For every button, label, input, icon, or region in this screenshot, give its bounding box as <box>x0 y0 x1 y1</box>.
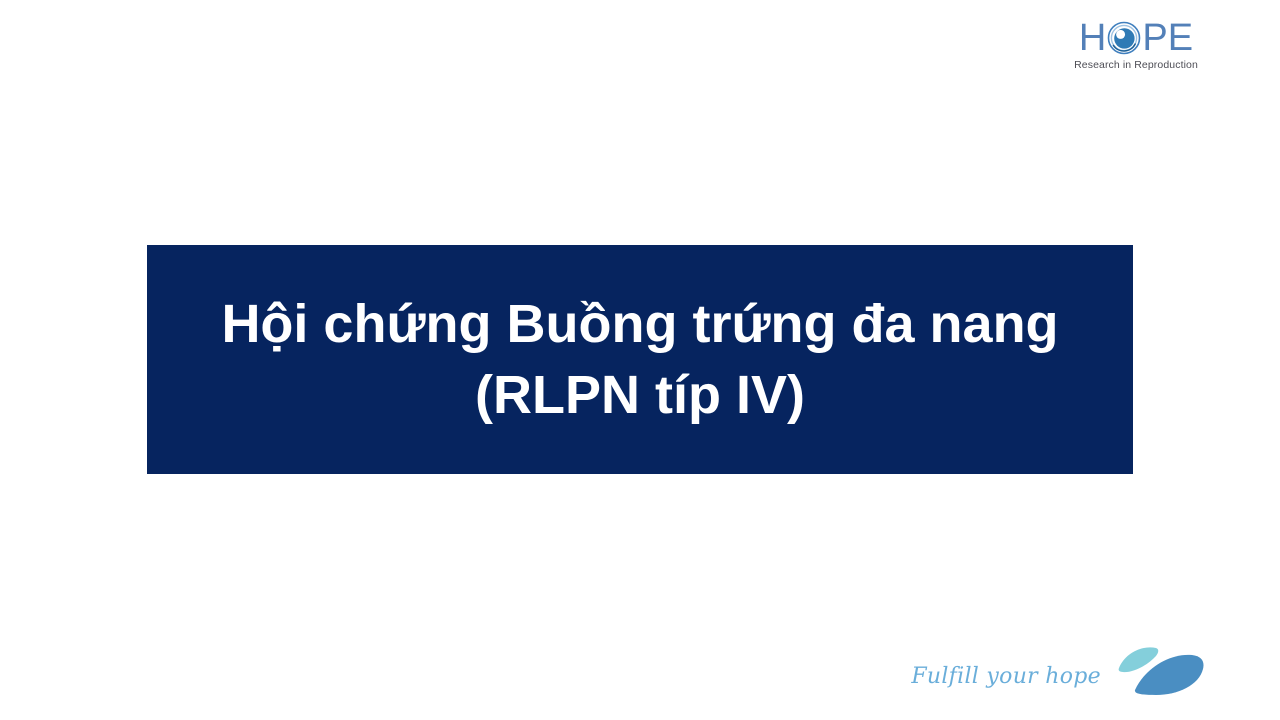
brand-letter-p: P <box>1142 19 1167 57</box>
eye-iris-icon <box>1107 21 1141 55</box>
title-band: Hội chứng Buồng trứng đa nang (RLPN típ … <box>147 245 1133 474</box>
page-title: Hội chứng Buồng trứng đa nang (RLPN típ … <box>173 289 1107 429</box>
slide-canvas: H P E Research in Reproduction Hội chứng… <box>0 0 1280 720</box>
brand-letter-e: E <box>1168 19 1193 57</box>
brand-tagline: Research in Reproduction <box>1074 59 1198 71</box>
brand-letter-h: H <box>1079 19 1106 57</box>
hope-wordmark: H P E <box>1079 18 1193 58</box>
footer-slogan: Fulfill your hope <box>911 666 1101 688</box>
two-leaf-logo-icon <box>1115 642 1207 698</box>
footer-brand-mark: Fulfill your hope <box>911 642 1207 698</box>
title-line-1: Hội chứng Buồng trứng đa nang <box>173 289 1107 359</box>
title-line-2: (RLPN típ IV) <box>173 360 1107 430</box>
hope-brand-logo: H P E Research in Reproduction <box>1070 18 1202 80</box>
